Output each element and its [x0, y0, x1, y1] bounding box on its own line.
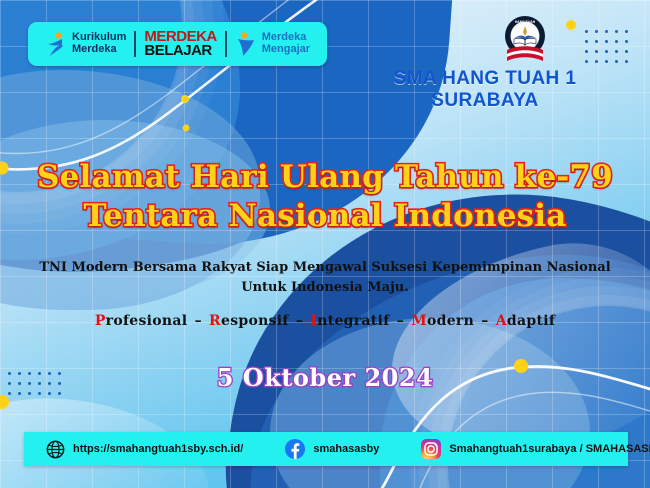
motto-word-initial: R [209, 313, 221, 329]
yellow-node-bottom-left [0, 395, 9, 409]
yellow-node-upper [181, 95, 189, 103]
merdeka-mengajar-item: Merdeka Mengajar [227, 31, 318, 57]
banner-divider-1 [134, 31, 136, 57]
headline-line-1: Selamat Hari Ulang Tahun ke-79 [0, 158, 650, 197]
instagram-icon [421, 439, 441, 459]
instagram-label: Smahangtuah1surabaya / SMAHASASBY [449, 443, 650, 455]
facebook-icon [285, 439, 305, 459]
school-name: SMA HANG TUAH 1 SURABAYA [340, 68, 630, 113]
subtitle-line-1: TNI Modern Bersama Rakyat Siap Mengawal … [0, 258, 650, 278]
facebook-label: smahasasby [313, 443, 379, 455]
sma-hang-tuah-1-crest-icon: HANG TUAH [500, 14, 550, 66]
kurikulum-merdeka-logo-icon [45, 31, 67, 57]
motto-word-rest: esponsif [221, 313, 289, 329]
school-name-line-1: SMA HANG TUAH 1 [340, 68, 630, 90]
banner-divider-2 [225, 31, 227, 57]
merdeka-belajar-item: MERDEKA BELAJAR [136, 30, 224, 59]
motto-word: Responsif [209, 313, 289, 329]
globe-icon [46, 440, 65, 459]
motto-word-rest: odern [427, 313, 474, 329]
motto-word-rest: ntegratif [317, 313, 389, 329]
motto-word-initial: M [411, 313, 427, 329]
kurikulum-merdeka-item: Kurikulum Merdeka [37, 31, 134, 57]
dot-grid-top-right [585, 30, 628, 63]
motto-word-rest: rofesional [106, 313, 188, 329]
motto-separator: – [474, 313, 496, 329]
facebook-contact[interactable]: smahasasby [285, 439, 379, 459]
merdeka-mengajar-logo-icon [235, 31, 257, 57]
motto-separator: – [390, 313, 412, 329]
motto-word: Profesional [95, 313, 188, 329]
motto-line: Profesional – Responsif – Integratif – M… [0, 313, 650, 329]
svg-text:HANG TUAH: HANG TUAH [515, 20, 536, 24]
headline-line-2: Tentara Nasional Indonesia [0, 197, 650, 236]
event-date: 5 Oktober 2024 [0, 363, 650, 392]
website-label: https://smahangtuah1sby.sch.id/ [73, 443, 243, 455]
kurikulum-merdeka-banner: Kurikulum Merdeka MERDEKA BELAJAR Merdek… [28, 22, 327, 66]
motto-word-initial: A [496, 313, 507, 329]
contact-footer-bar: https://smahangtuah1sby.sch.id/ smahasas… [24, 432, 628, 466]
motto-word-rest: daptif [507, 313, 555, 329]
kurikulum-merdeka-text: Kurikulum Merdeka [72, 32, 126, 55]
school-name-line-2: SURABAYA [340, 90, 630, 112]
yellow-node-top-right [566, 20, 576, 30]
website-contact[interactable]: https://smahangtuah1sby.sch.id/ [46, 440, 243, 459]
poster-canvas: Kurikulum Merdeka MERDEKA BELAJAR Merdek… [0, 0, 650, 488]
headline: Selamat Hari Ulang Tahun ke-79 Tentara N… [0, 158, 650, 236]
instagram-contact[interactable]: Smahangtuah1surabaya / SMAHASASBY [421, 439, 650, 459]
merdeka-belajar-text: MERDEKA BELAJAR [144, 30, 216, 59]
motto-separator: – [187, 313, 209, 329]
motto-word-initial: P [95, 313, 106, 329]
subtitle-line-2: Untuk Indonesia Maju. [0, 278, 650, 298]
subtitle: TNI Modern Bersama Rakyat Siap Mengawal … [0, 258, 650, 298]
merdeka-mengajar-text: Merdeka Mengajar [262, 32, 310, 55]
motto-word: Integratif [310, 313, 389, 329]
yellow-node-small [183, 125, 190, 132]
motto-separator: – [289, 313, 311, 329]
motto-word: Adaptif [496, 313, 555, 329]
motto-word: Modern [411, 313, 474, 329]
